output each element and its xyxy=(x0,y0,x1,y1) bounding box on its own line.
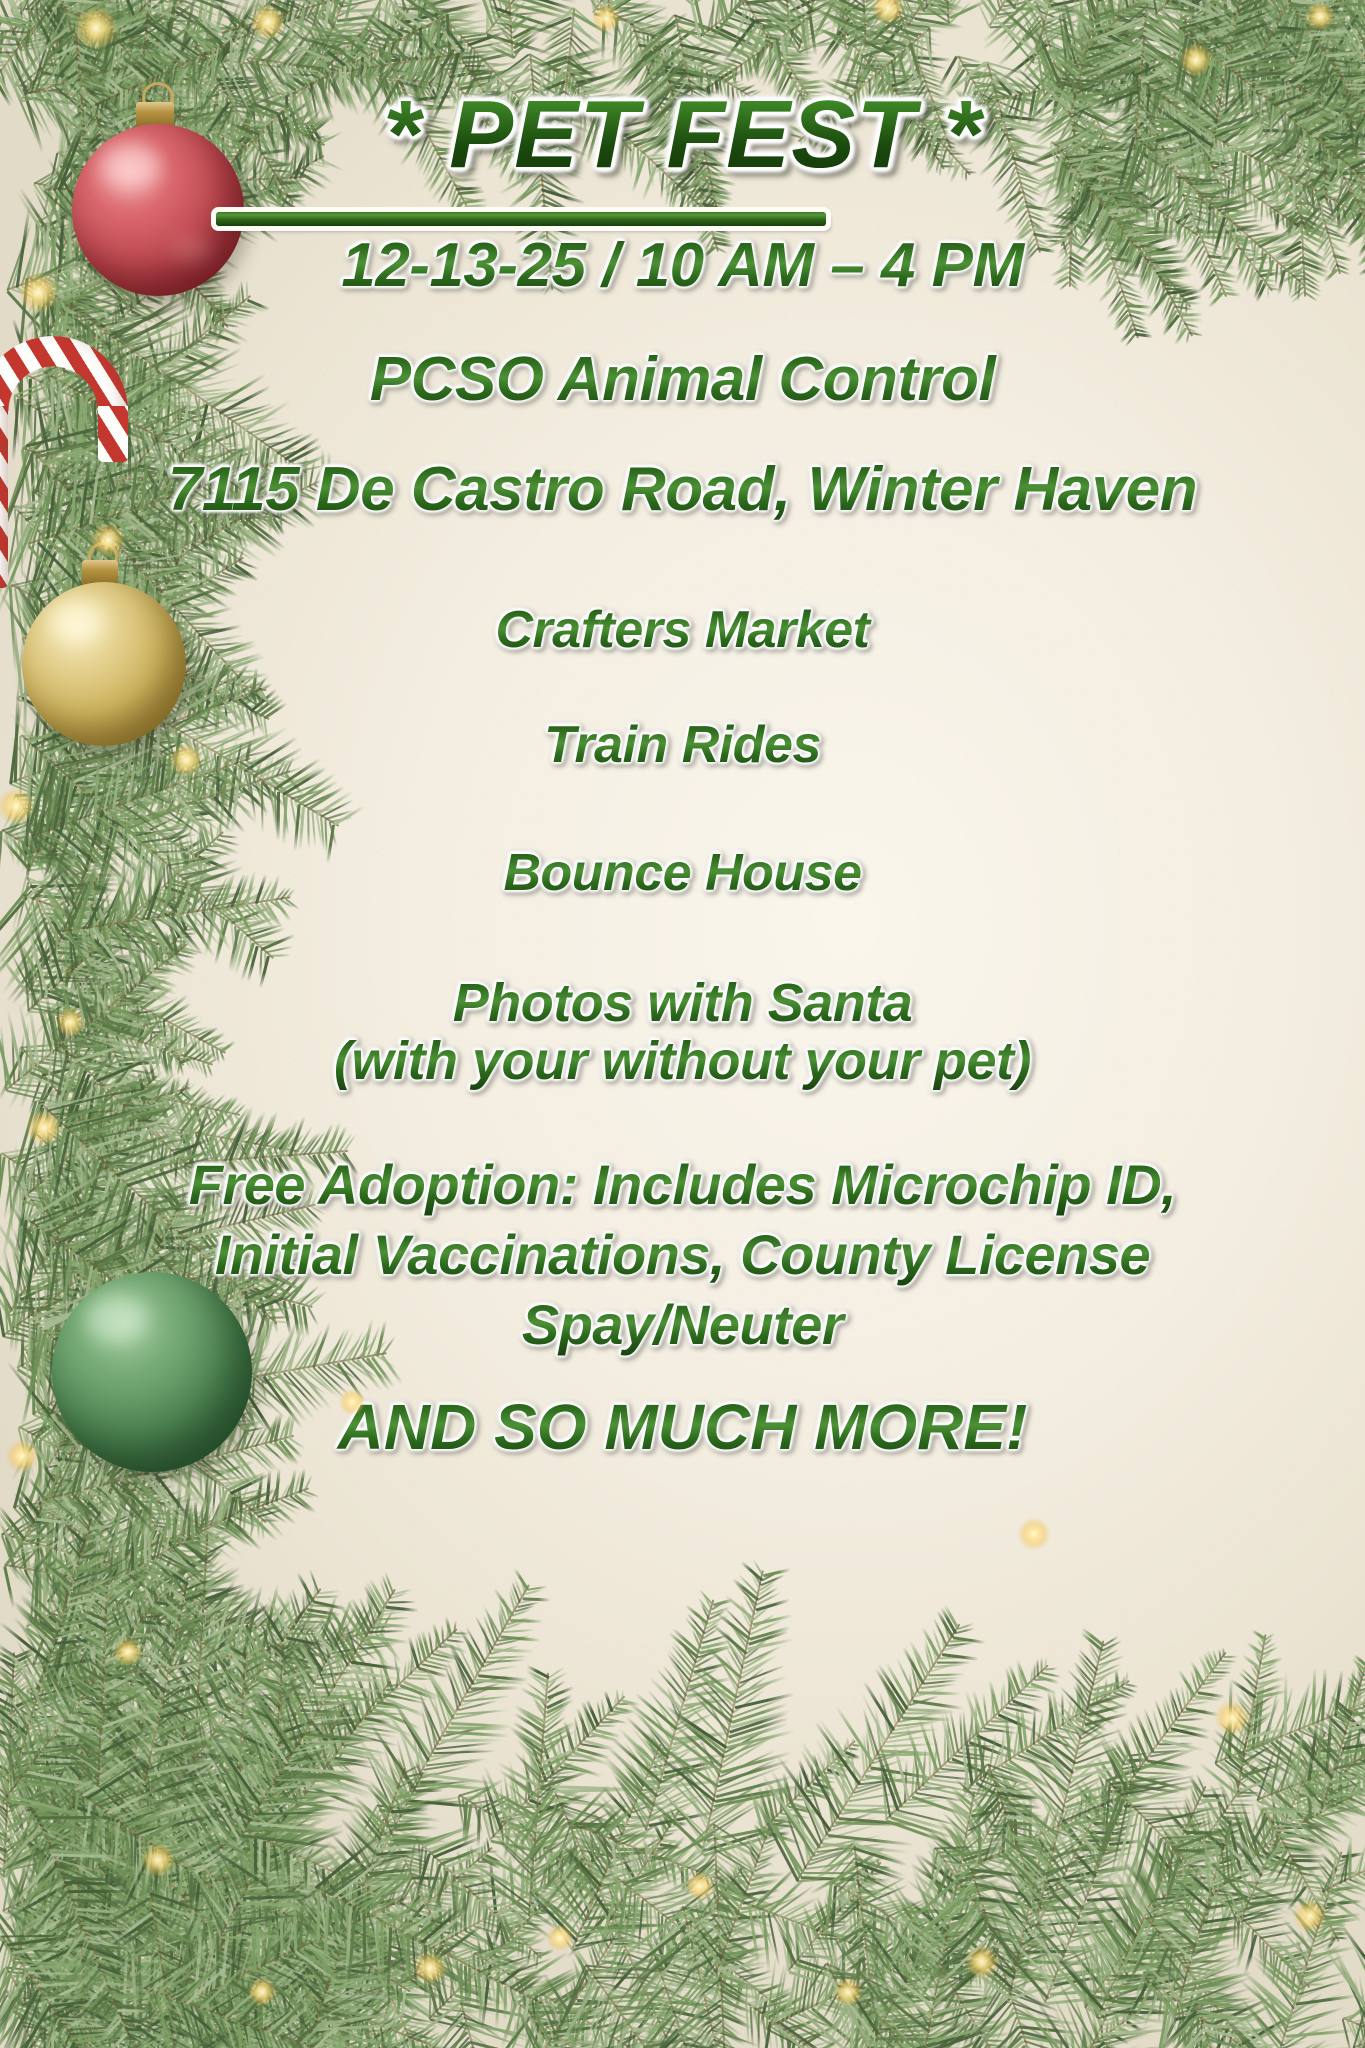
page-title: * PET FEST * xyxy=(0,80,1365,190)
title-divider xyxy=(216,212,826,226)
adoption-line-3: Spay/Neuter xyxy=(0,1292,1365,1357)
adoption-line-2: Initial Vaccinations, County License xyxy=(0,1222,1365,1287)
event-datetime: 12-13-25 / 10 AM – 4 PM xyxy=(0,230,1365,301)
closing-line: AND SO MUCH MORE! xyxy=(0,1390,1365,1464)
activity-item: Crafters Market xyxy=(0,600,1365,660)
activity-item: Bounce House xyxy=(0,843,1365,903)
adoption-line-1: Free Adoption: Includes Microchip ID, xyxy=(0,1152,1365,1217)
activity-item: Train Rides xyxy=(0,715,1365,775)
organization-name: PCSO Animal Control xyxy=(0,344,1365,415)
pet-fest-poster: * PET FEST * 12-13-25 / 10 AM – 4 PM PCS… xyxy=(0,0,1365,2048)
santa-headline: Photos with Santa xyxy=(0,972,1365,1034)
santa-note: (with your without your pet) xyxy=(0,1030,1365,1092)
event-address: 7115 De Castro Road, Winter Haven xyxy=(0,454,1365,525)
